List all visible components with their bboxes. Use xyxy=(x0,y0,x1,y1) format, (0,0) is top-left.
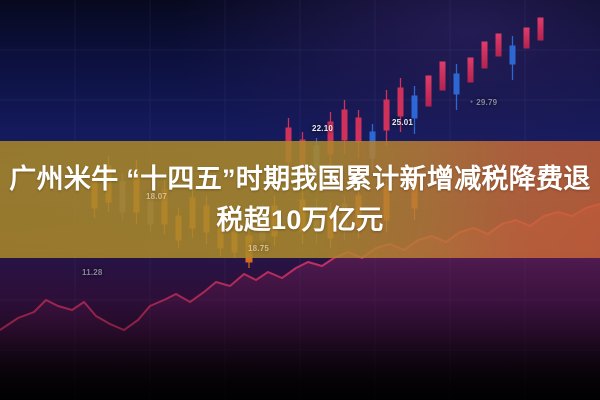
page-title: 广州米牛 “十四五”时期我国累计新增减税降费退 税超10万亿元 xyxy=(0,141,600,258)
thumbnail-image: 22.10 25.01 29.79 11.28 广州米牛 “十四五”时期我国累计… xyxy=(0,0,600,400)
headline-line-1: 广州米牛 “十四五”时期我国累计新增减税降费退 xyxy=(9,159,590,200)
headline-line-2: 税超10万亿元 xyxy=(216,200,383,241)
